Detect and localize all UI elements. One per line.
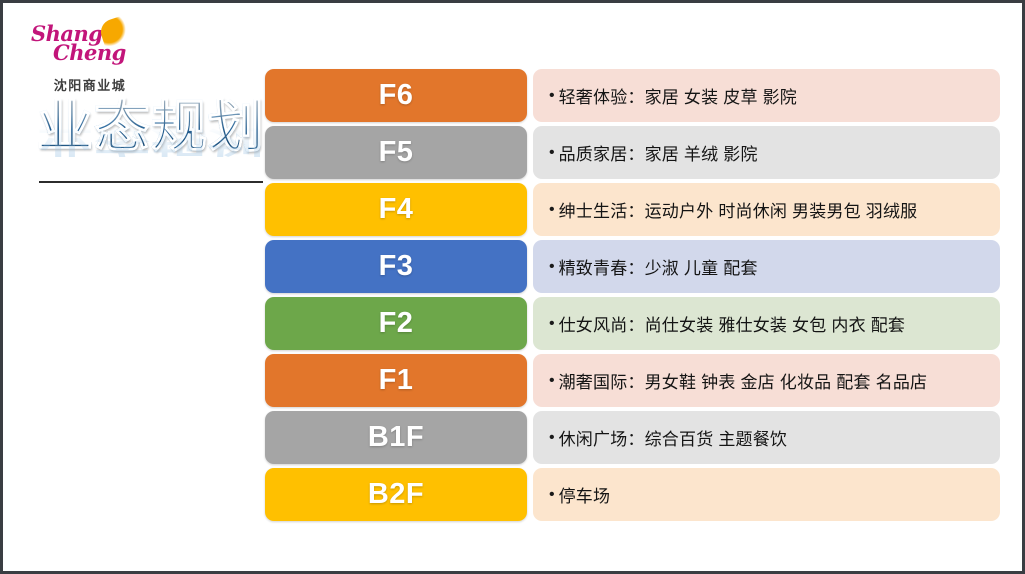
floor-description-panel: •仕女风尚：尚仕女装 雅仕女装 女包 内衣 配套 — [533, 297, 1000, 350]
floor-description-panel: •品质家居：家居 羊绒 影院 — [533, 126, 1000, 179]
slide-canvas: Shang Cheng 沈阳商业城 业态规划 业态规划 F6•轻奢体验：家居 女… — [0, 0, 1025, 574]
floor-code-badge[interactable]: F3 — [265, 240, 527, 293]
logo-script-mark: Shang Cheng — [25, 21, 155, 67]
floor-description-text: 仕女风尚：尚仕女装 雅仕女装 女包 内衣 配套 — [559, 311, 906, 336]
floor-code-badge[interactable]: B2F — [265, 468, 527, 521]
bullet-icon: • — [549, 373, 555, 389]
floor-code-badge[interactable]: F6 — [265, 69, 527, 122]
floor-row: F1•潮奢国际：男女鞋 钟表 金店 化妆品 配套 名品店 — [265, 354, 1000, 407]
floor-description-text: 精致青春：少淑 儿童 配套 — [559, 254, 758, 279]
floor-description-panel: •精致青春：少淑 儿童 配套 — [533, 240, 1000, 293]
page-title-group: 业态规划 业态规划 — [37, 99, 287, 199]
floor-row: B1F•休闲广场：综合百货 主题餐饮 — [265, 411, 1000, 464]
floor-description-panel: •轻奢体验：家居 女装 皮草 影院 — [533, 69, 1000, 122]
logo-word-cheng: Cheng — [25, 40, 183, 65]
bullet-icon: • — [549, 430, 555, 446]
floor-description-text: 轻奢体验：家居 女装 皮草 影院 — [559, 83, 797, 108]
floor-description-panel: •休闲广场：综合百货 主题餐饮 — [533, 411, 1000, 464]
floor-row: F2•仕女风尚：尚仕女装 雅仕女装 女包 内衣 配套 — [265, 297, 1000, 350]
logo-chinese-name: 沈阳商业城 — [25, 75, 155, 94]
floor-code-badge[interactable]: F5 — [265, 126, 527, 179]
bullet-icon: • — [549, 88, 555, 104]
floor-row: F3•精致青春：少淑 儿童 配套 — [265, 240, 1000, 293]
floor-description-text: 停车场 — [559, 482, 611, 507]
floor-code-badge[interactable]: B1F — [265, 411, 527, 464]
floor-code-badge[interactable]: F1 — [265, 354, 527, 407]
bullet-icon: • — [549, 259, 555, 275]
brand-logo: Shang Cheng 沈阳商业城 — [25, 21, 155, 94]
bullet-icon: • — [549, 316, 555, 332]
floor-description-text: 绅士生活：运动户外 时尚休闲 男装男包 羽绒服 — [559, 197, 918, 222]
bullet-icon: • — [549, 145, 555, 161]
floor-code-badge[interactable]: F4 — [265, 183, 527, 236]
bullet-icon: • — [549, 487, 555, 503]
floor-row: F4•绅士生活：运动户外 时尚休闲 男装男包 羽绒服 — [265, 183, 1000, 236]
floor-description-text: 潮奢国际：男女鞋 钟表 金店 化妆品 配套 名品店 — [559, 368, 928, 393]
bullet-icon: • — [549, 202, 555, 218]
floor-description-panel: •绅士生活：运动户外 时尚休闲 男装男包 羽绒服 — [533, 183, 1000, 236]
floor-description-text: 休闲广场：综合百货 主题餐饮 — [559, 425, 788, 450]
floor-row: B2F•停车场 — [265, 468, 1000, 521]
floor-code-badge[interactable]: F2 — [265, 297, 527, 350]
floor-row: F5•品质家居：家居 羊绒 影院 — [265, 126, 1000, 179]
title-underline-rule — [39, 181, 263, 183]
floor-description-text: 品质家居：家居 羊绒 影院 — [559, 140, 758, 165]
floor-description-panel: •停车场 — [533, 468, 1000, 521]
floor-plan-list: F6•轻奢体验：家居 女装 皮草 影院F5•品质家居：家居 羊绒 影院F4•绅士… — [265, 69, 1000, 525]
floor-description-panel: •潮奢国际：男女鞋 钟表 金店 化妆品 配套 名品店 — [533, 354, 1000, 407]
page-title-reflection: 业态规划 — [37, 126, 265, 157]
floor-row: F6•轻奢体验：家居 女装 皮草 影院 — [265, 69, 1000, 122]
